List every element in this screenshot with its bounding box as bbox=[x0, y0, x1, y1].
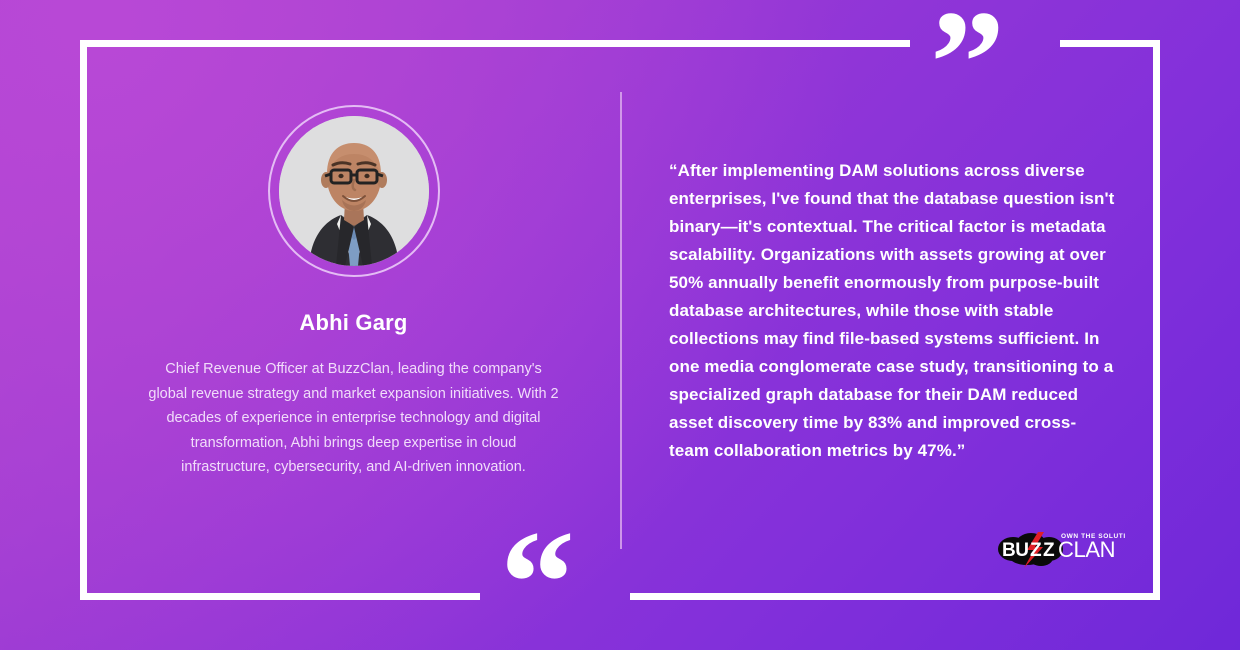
svg-text:Z: Z bbox=[1043, 540, 1055, 561]
quote-column: “After implementing DAM solutions across… bbox=[622, 47, 1153, 593]
profile-bio: Chief Revenue Officer at BuzzClan, leadi… bbox=[148, 357, 560, 480]
frame-border-right bbox=[1153, 47, 1160, 600]
svg-text:CLAN: CLAN bbox=[1058, 537, 1115, 562]
testimonial-card: ” “ bbox=[0, 0, 1240, 650]
svg-text:Z: Z bbox=[1030, 540, 1042, 561]
testimonial-quote: “After implementing DAM solutions across… bbox=[669, 157, 1115, 465]
svg-text:OWN THE SOLUTION: OWN THE SOLUTION bbox=[1061, 533, 1125, 540]
avatar bbox=[279, 116, 429, 266]
card-body: Abhi Garg Chief Revenue Officer at BuzzC… bbox=[87, 47, 1153, 593]
frame-border-bottom-left bbox=[80, 593, 480, 600]
frame-border-left bbox=[80, 40, 87, 600]
svg-text:BU: BU bbox=[1002, 540, 1028, 561]
frame-border-top-right bbox=[1060, 40, 1160, 47]
buzzclan-logo: BU Z Z CLAN OWN THE SOLUTION bbox=[997, 525, 1125, 569]
avatar-ring bbox=[268, 105, 440, 277]
frame-border-top-left bbox=[80, 40, 910, 47]
profile-name: Abhi Garg bbox=[299, 310, 407, 336]
profile-column: Abhi Garg Chief Revenue Officer at BuzzC… bbox=[87, 47, 620, 593]
frame-border-bottom-right bbox=[630, 593, 1160, 600]
